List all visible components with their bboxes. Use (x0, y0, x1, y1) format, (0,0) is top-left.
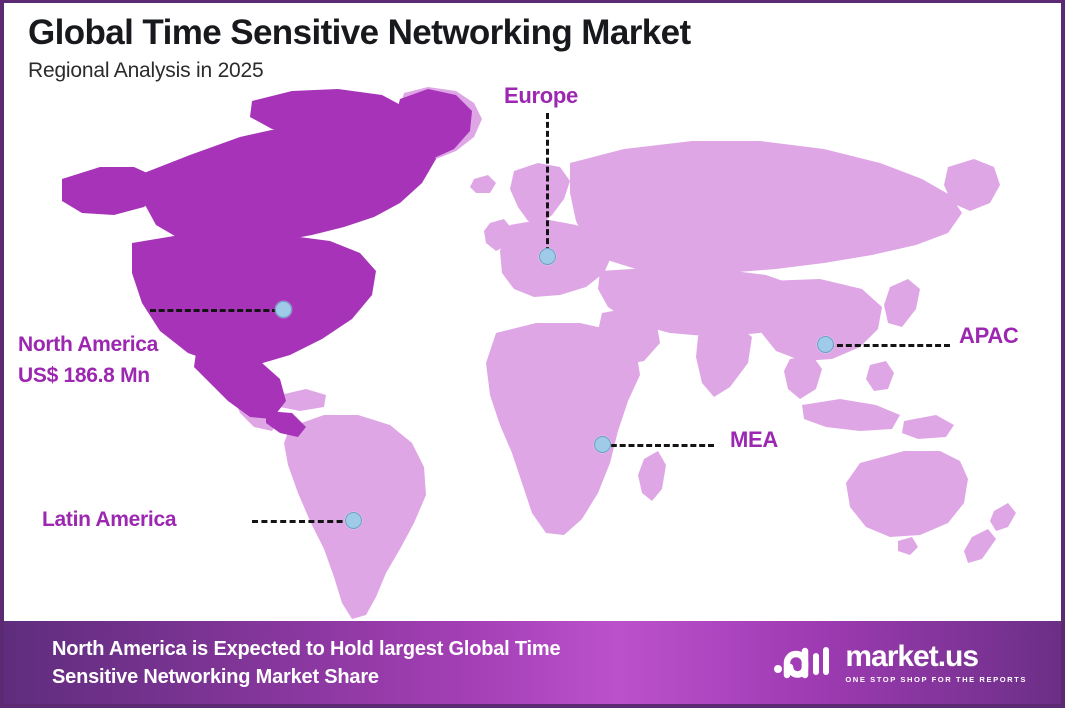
region-caribbean (280, 389, 326, 411)
market-us-logo-icon (773, 641, 835, 684)
region-philippines (866, 361, 894, 391)
connector-europe (546, 113, 549, 253)
region-tasmania (898, 537, 918, 555)
footer-statement-line-1: North America is Expected to Hold larges… (52, 635, 560, 663)
region-sea-peninsula (784, 355, 822, 399)
region-label-north-america-name: North America (18, 329, 158, 360)
region-russia (570, 141, 962, 273)
region-australia (846, 451, 968, 537)
brand-tagline: ONE STOP SHOP FOR THE REPORTS (845, 675, 1027, 684)
connector-mea (602, 444, 714, 447)
region-scandinavia (510, 163, 570, 225)
region-canada-north (250, 89, 408, 135)
footer-statement: North America is Expected to Hold larges… (52, 635, 560, 691)
region-japan (884, 279, 920, 327)
region-papua (902, 415, 954, 439)
connector-apac (828, 344, 950, 347)
region-usa (132, 233, 376, 365)
map-marker-mea[interactable] (594, 436, 611, 453)
region-mexico (194, 353, 286, 419)
region-africa (486, 323, 640, 535)
map-marker-apac[interactable] (817, 336, 834, 353)
brand-name: market.us (845, 642, 1027, 672)
region-label-north-america: North America US$ 186.8 Mn (18, 329, 158, 391)
world-map-svg (4, 75, 1061, 623)
page-title: Global Time Sensitive Networking Market (28, 11, 978, 55)
region-indonesia (802, 399, 900, 431)
region-india (696, 323, 752, 397)
brand-logo[interactable]: market.us ONE STOP SHOP FOR THE REPORTS (773, 641, 1039, 684)
footer-banner: North America is Expected to Hold larges… (4, 621, 1061, 704)
region-central-america-dark (266, 411, 306, 437)
map-marker-latin-america[interactable] (345, 512, 362, 529)
header: Global Time Sensitive Networking Market … (28, 11, 978, 84)
map-marker-north-america[interactable] (275, 301, 292, 318)
brand-logo-text: market.us ONE STOP SHOP FOR THE REPORTS (845, 642, 1027, 684)
infographic-card: Global Time Sensitive Networking Market … (0, 0, 1065, 708)
region-label-north-america-value: US$ 186.8 Mn (18, 360, 158, 391)
world-map (4, 75, 1061, 623)
connector-latin-america (252, 520, 352, 523)
region-iceland (470, 175, 496, 193)
region-madagascar (638, 451, 666, 501)
region-label-apac: APAC (959, 323, 1019, 349)
region-label-mea: MEA (730, 427, 778, 453)
region-label-europe: Europe (504, 83, 578, 109)
map-marker-europe[interactable] (539, 248, 556, 265)
footer-statement-line-2: Sensitive Networking Market Share (52, 663, 560, 691)
region-label-latin-america: Latin America (42, 508, 176, 532)
region-new-zealand (964, 503, 1016, 563)
connector-north-america (150, 309, 278, 312)
region-canada (144, 119, 436, 245)
